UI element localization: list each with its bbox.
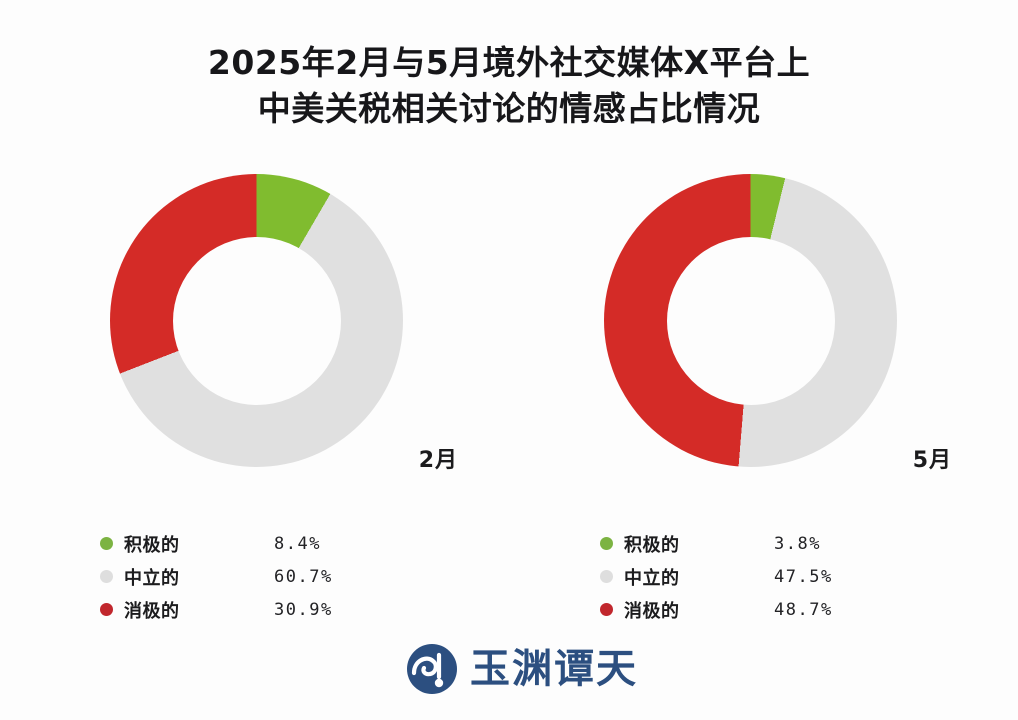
legend-value-neutral: 60.7%	[274, 567, 384, 587]
legend-item-neutral: 中立的 47.5%	[600, 560, 960, 593]
legend-dot-neutral-icon	[600, 570, 613, 583]
chart-page: 2025年2月与5月境外社交媒体X平台上 中美关税相关讨论的情感占比情况 2月 …	[0, 0, 1018, 720]
legend-value-positive: 8.4%	[274, 534, 384, 554]
wave-circle-emblem-icon	[406, 643, 458, 695]
legend-item-neutral: 中立的 60.7%	[100, 560, 460, 593]
donut-chart-february	[110, 174, 403, 467]
donut-chart-may	[604, 174, 897, 467]
legend-label-positive: 积极的	[124, 531, 274, 557]
legend-label-negative: 消极的	[124, 597, 274, 623]
legend-label-neutral: 中立的	[624, 564, 774, 590]
legend-item-positive: 积极的 8.4%	[100, 527, 460, 560]
donut-panel-may: 5月	[540, 168, 960, 478]
legend-value-neutral: 47.5%	[774, 567, 884, 587]
legend-label-positive: 积极的	[624, 531, 774, 557]
legend-may: 积极的 3.8% 中立的 47.5% 消极的 48.7%	[600, 527, 960, 626]
page-title-line-1: 2025年2月与5月境外社交媒体X平台上	[0, 40, 1018, 86]
legend-item-positive: 积极的 3.8%	[600, 527, 960, 560]
donut-hole-may	[667, 237, 835, 405]
donut-panel-february: 2月	[46, 168, 466, 478]
legend-dot-positive-icon	[600, 537, 613, 550]
legend-item-negative: 消极的 30.9%	[100, 593, 460, 626]
watermark-logo: 玉渊谭天	[406, 638, 638, 700]
period-label-february: 2月	[419, 442, 458, 474]
legend-value-negative: 30.9%	[274, 600, 384, 620]
legend-dot-positive-icon	[100, 537, 113, 550]
page-title-line-2: 中美关税相关讨论的情感占比情况	[0, 86, 1018, 132]
legend-label-negative: 消极的	[624, 597, 774, 623]
logo-text: 玉渊谭天	[470, 649, 638, 689]
legend-february: 积极的 8.4% 中立的 60.7% 消极的 30.9%	[100, 527, 460, 626]
donut-hole-february	[173, 237, 341, 405]
legend-label-neutral: 中立的	[124, 564, 274, 590]
period-label-may: 5月	[913, 442, 952, 474]
legend-value-positive: 3.8%	[774, 534, 884, 554]
legend-dot-negative-icon	[600, 603, 613, 616]
legend-dot-negative-icon	[100, 603, 113, 616]
legend-dot-neutral-icon	[100, 570, 113, 583]
page-title: 2025年2月与5月境外社交媒体X平台上 中美关税相关讨论的情感占比情况	[0, 40, 1018, 132]
legend-value-negative: 48.7%	[774, 600, 884, 620]
legend-item-negative: 消极的 48.7%	[600, 593, 960, 626]
